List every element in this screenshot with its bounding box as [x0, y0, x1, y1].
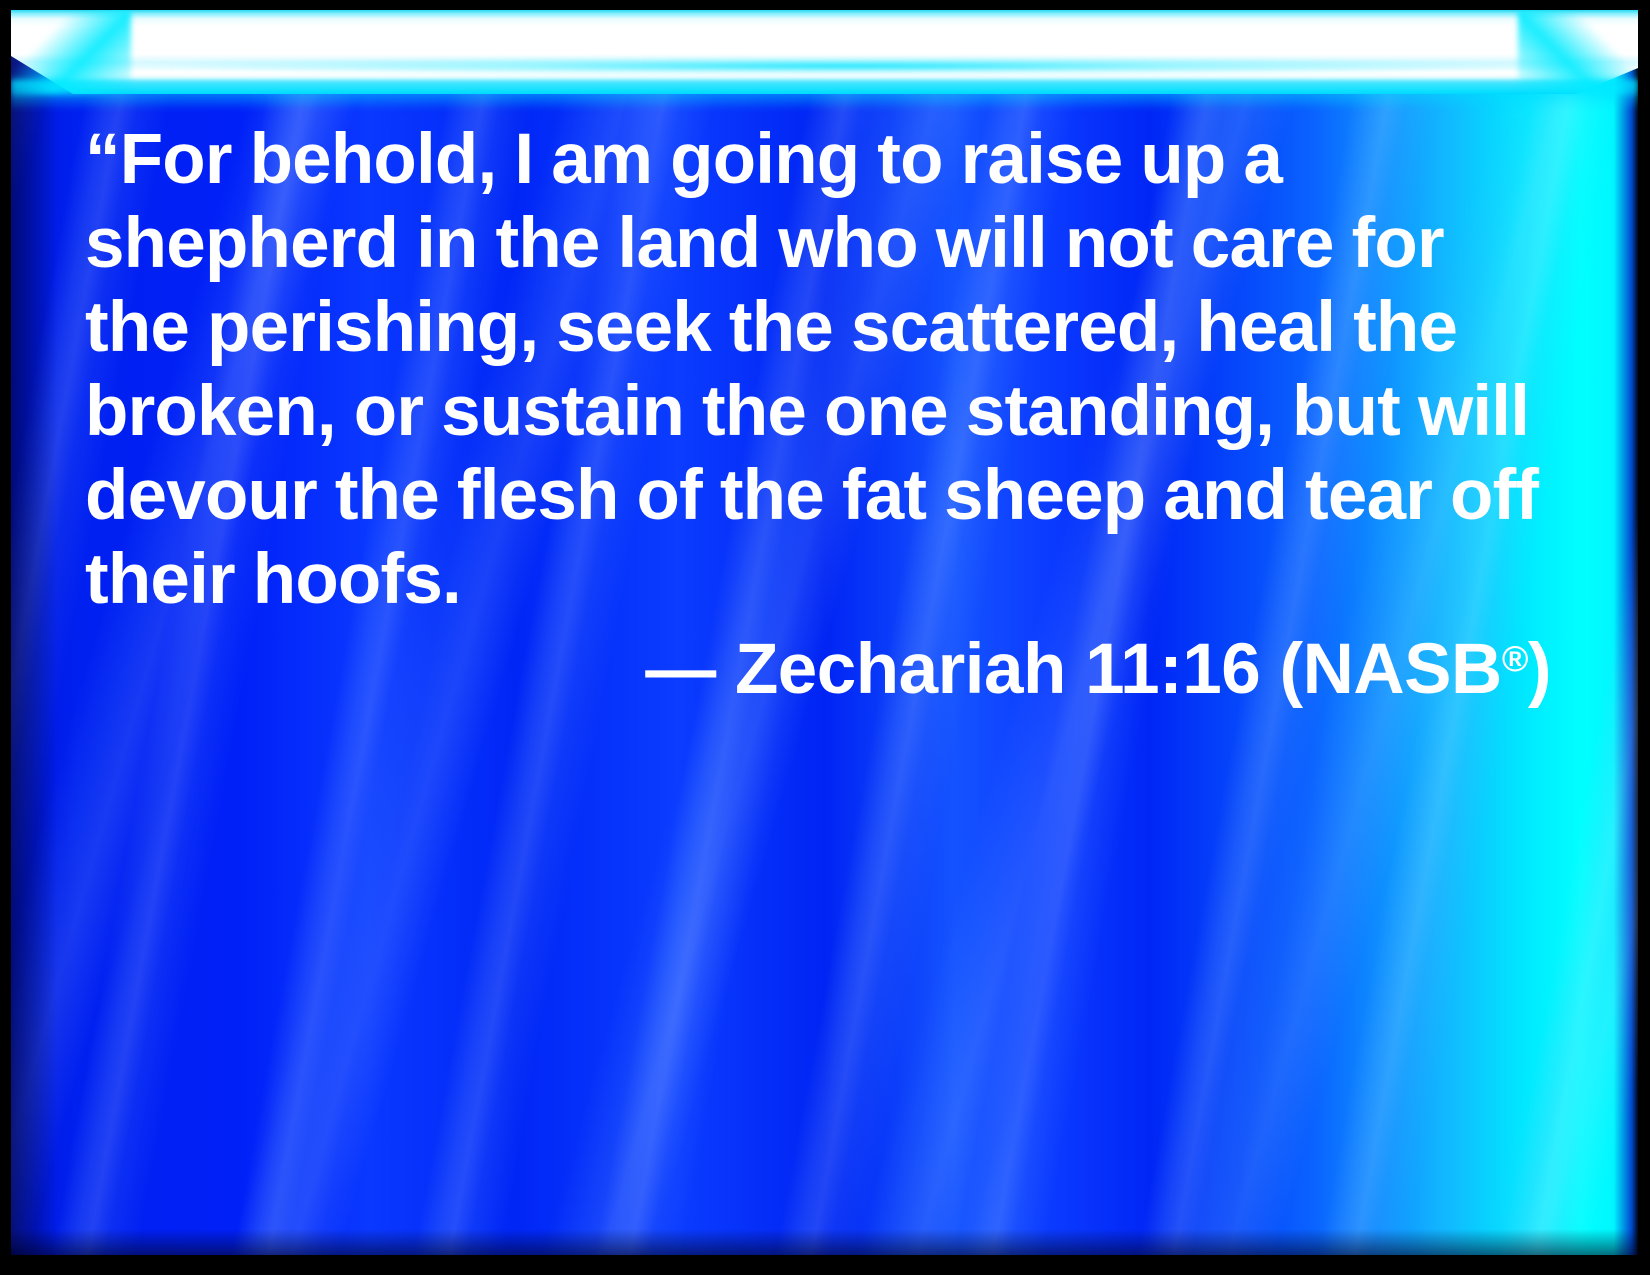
- slide-frame: “For behold, I am going to raise up a sh…: [0, 0, 1650, 1275]
- verse-attribution: — Zechariah 11:16 (NASB®): [85, 624, 1555, 716]
- attribution-reference: Zechariah 11:16 (NASB: [735, 630, 1502, 709]
- background-bottom-vignette: [11, 1229, 1638, 1255]
- header-band-right-corner: [1518, 10, 1638, 94]
- header-band-body: [11, 10, 1638, 94]
- header-band-left-corner: [11, 10, 131, 94]
- verse-block: “For behold, I am going to raise up a sh…: [85, 118, 1555, 716]
- header-band-lower-glow: [11, 80, 1638, 110]
- registered-trademark-icon: ®: [1502, 638, 1528, 679]
- background-left-vignette: [11, 10, 57, 1255]
- attribution-close-paren: ): [1528, 630, 1551, 709]
- verse-body-text: “For behold, I am going to raise up a sh…: [85, 118, 1555, 622]
- attribution-dash: —: [645, 630, 716, 709]
- slide-background: “For behold, I am going to raise up a sh…: [11, 10, 1638, 1255]
- header-band-cyan-streak: [71, 58, 1571, 74]
- header-glow-band: [11, 10, 1638, 94]
